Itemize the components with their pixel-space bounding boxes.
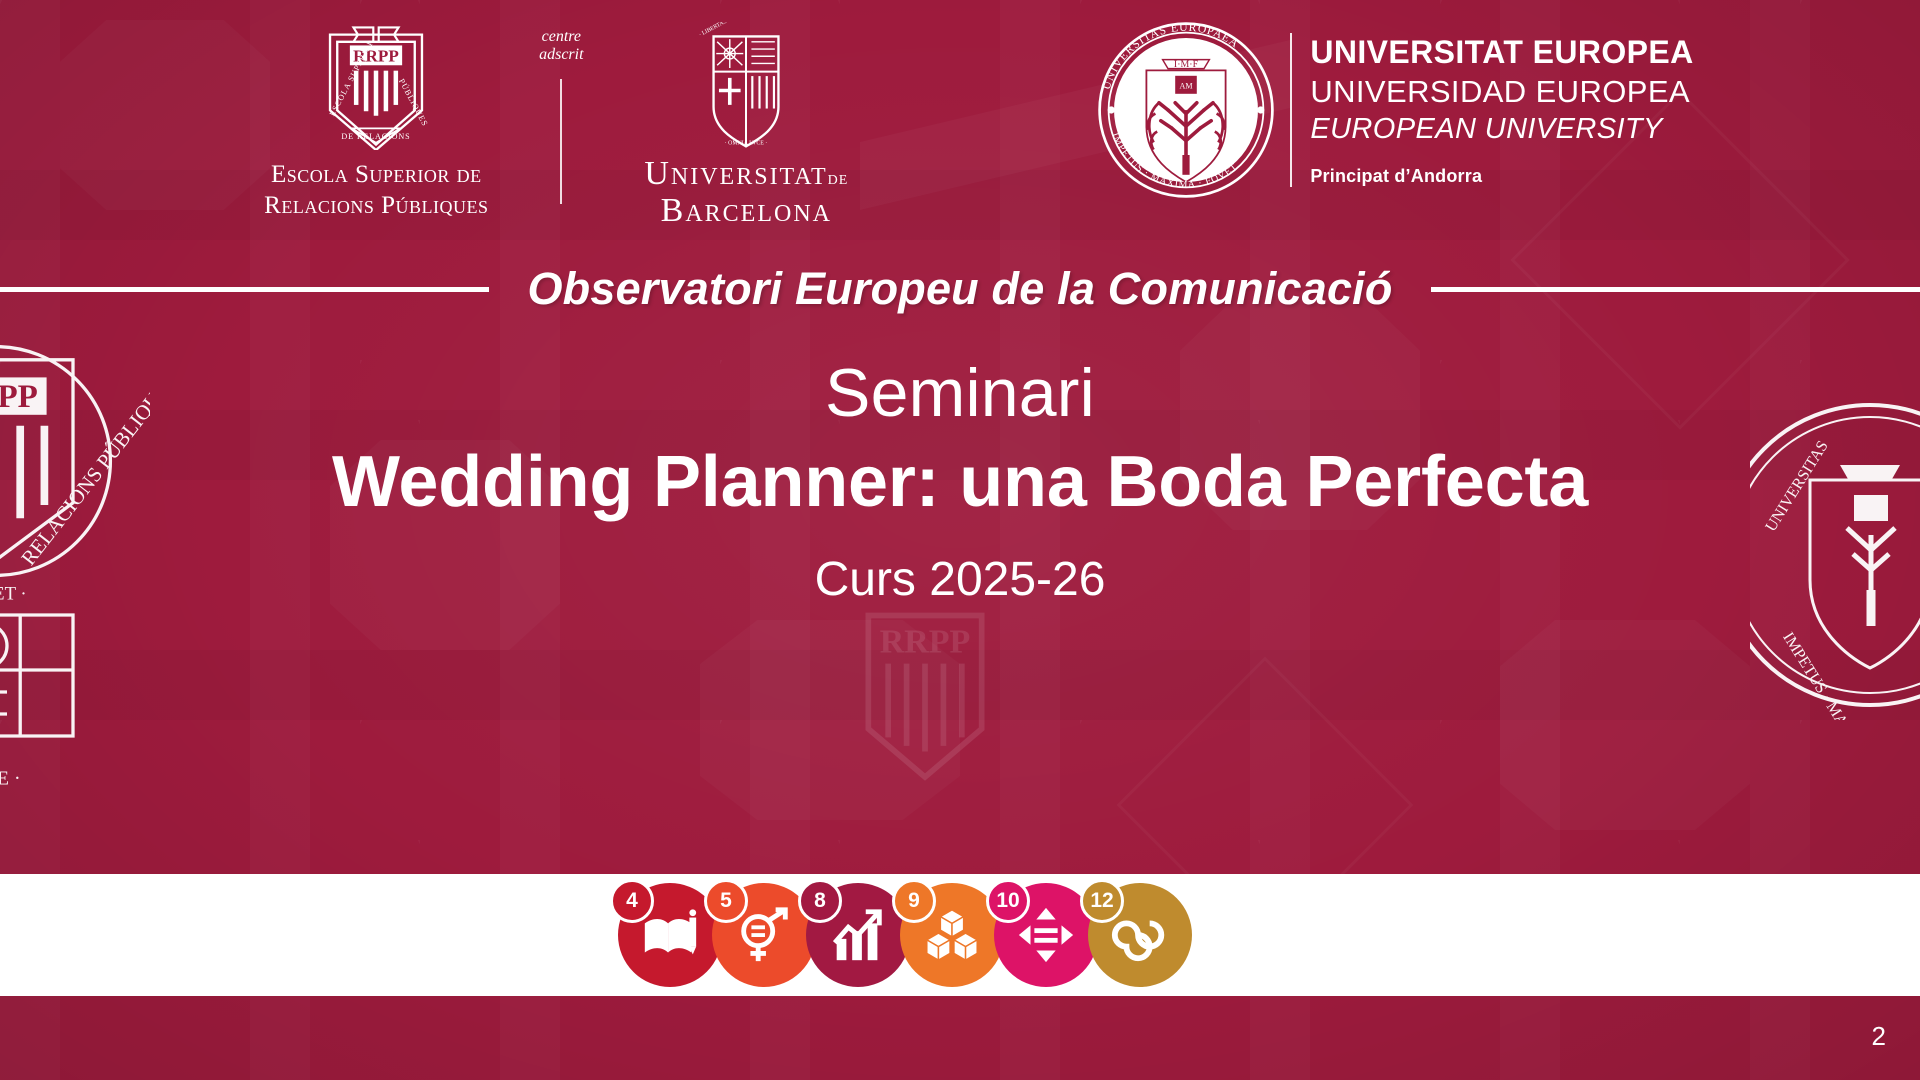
ub-line-1-main: Universitat	[644, 155, 827, 192]
ub-line-1: Universitatde	[644, 156, 848, 193]
slide-root: RRPP RRPP RELACIONS PÚBLIQUES	[0, 0, 1920, 1080]
ub-wordmark: Universitatde Barcelona	[644, 156, 848, 229]
sdg-badge-12[interactable]: 12	[1088, 883, 1192, 987]
svg-text:I·M·F: I·M·F	[1174, 59, 1199, 70]
ue-crest-icon: I·M·F AM U	[1096, 20, 1276, 200]
ue-line-spanish: UNIVERSIDAD EUROPEA	[1310, 73, 1693, 111]
banner-rule-right	[1431, 287, 1920, 292]
seminar-kicker: Seminari	[825, 355, 1095, 431]
ue-vertical-divider	[1290, 33, 1292, 186]
svg-text:AM: AM	[1180, 81, 1193, 90]
ue-line-andorra: Principat d’Andorra	[1310, 166, 1693, 187]
vertical-divider	[560, 79, 562, 204]
main-content: Seminari Wedding Planner: una Boda Perfe…	[0, 355, 1920, 685]
centre-adscrit-separator: centre adscrit	[526, 0, 596, 204]
centre-adscrit-line-1: centre	[539, 28, 583, 46]
banner-rule-left	[0, 287, 489, 292]
bottom-strip	[0, 996, 1920, 1080]
header-logo-row: RRPP DE RELACIONS ESCOLA SUPERIOR PÚBLIQ…	[0, 0, 1920, 250]
ue-line-english: EUROPEAN UNIVERSITY	[1310, 112, 1693, 148]
course-year: Curs 2025-26	[815, 552, 1106, 607]
observatori-banner: Observatori Europeu de la Comunicació	[0, 258, 1920, 320]
logo-universitat-europea: I·M·F AM U	[1096, 0, 1693, 200]
sdg-number-12: 12	[1080, 879, 1124, 923]
esrp-crest-icon: RRPP DE RELACIONS ESCOLA SUPERIOR PÚBLIQ…	[317, 22, 435, 150]
svg-text:· OMNIA LVCE ·: · OMNIA LVCE ·	[725, 141, 768, 147]
esrp-line-1: Escola Superior de	[264, 160, 488, 191]
ub-line-1-de: de	[828, 167, 849, 189]
banner-title: Observatori Europeu de la Comunicació	[527, 263, 1392, 315]
logo-universitat-de-barcelona: · LIBERTAS PERFVNDET · · OMNIA LVCE · Un…	[596, 0, 896, 229]
ub-crest-icon: · LIBERTAS PERFVNDET · · OMNIA LVCE ·	[699, 22, 793, 150]
sdg-number-8: 8	[798, 879, 842, 923]
sdg-number-5: 5	[704, 879, 748, 923]
ue-wordmark: UNIVERSITAT EUROPEA UNIVERSIDAD EUROPEA …	[1290, 33, 1693, 186]
sdg-number-9: 9	[892, 879, 936, 923]
sdg-number-10: 10	[986, 879, 1030, 923]
sdg-number-4: 4	[610, 879, 654, 923]
ub-line-2: Barcelona	[644, 193, 848, 230]
sdg-icon-strip: 4 5 8	[618, 883, 1182, 987]
svg-text:DE RELACIONS: DE RELACIONS	[342, 132, 411, 141]
svg-text:A LVCE ·: A LVCE ·	[0, 767, 21, 789]
footer-band: 4 5 8	[0, 874, 1920, 996]
centre-adscrit-line-2: adscrit	[539, 46, 583, 64]
ue-text-lines: UNIVERSITAT EUROPEA UNIVERSIDAD EUROPEA …	[1310, 33, 1693, 186]
esrp-line-2: Relacions Públiques	[264, 191, 488, 222]
ue-line-catalan: UNIVERSITAT EUROPEA	[1310, 33, 1693, 73]
logo-escola-superior-relacions-publiques: RRPP DE RELACIONS ESCOLA SUPERIOR PÚBLIQ…	[226, 0, 526, 221]
esrp-wordmark: Escola Superior de Relacions Públiques	[264, 160, 488, 221]
page-number: 2	[1872, 1021, 1886, 1052]
header-logo-group: RRPP DE RELACIONS ESCOLA SUPERIOR PÚBLIQ…	[226, 0, 1693, 229]
seminar-title: Wedding Planner: una Boda Perfecta	[332, 441, 1588, 524]
centre-adscrit-text: centre adscrit	[539, 28, 583, 65]
